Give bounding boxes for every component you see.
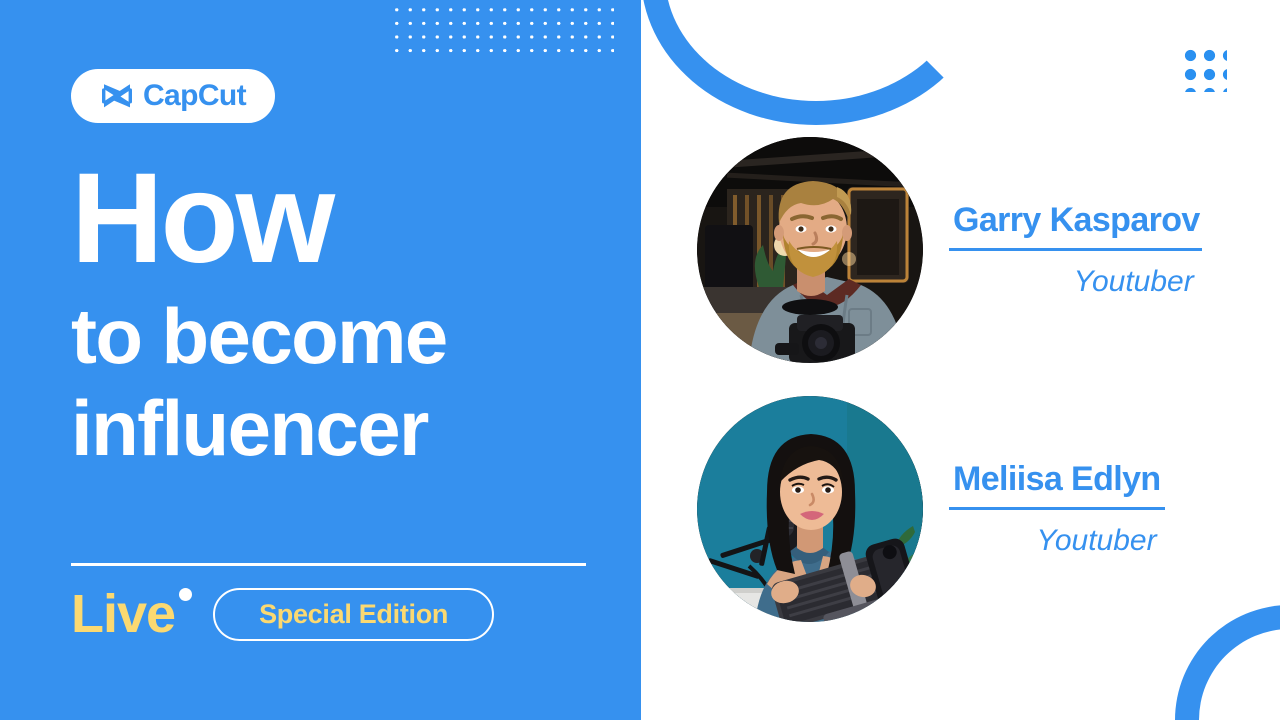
capcut-logo[interactable]: CapCut bbox=[71, 69, 275, 123]
headline-divider bbox=[71, 563, 586, 566]
special-edition-button[interactable]: Special Edition bbox=[213, 588, 494, 641]
headline-line-3: influencer bbox=[71, 382, 611, 474]
speaker-name-2: Meliisa Edlyn bbox=[949, 461, 1165, 498]
speaker-rule-1 bbox=[949, 248, 1202, 251]
speaker-info-2: Meliisa Edlyn Youtuber bbox=[949, 461, 1165, 557]
live-label-wrap: Live bbox=[71, 587, 175, 641]
speaker-card-2: Meliisa Edlyn Youtuber bbox=[697, 396, 1165, 622]
avatar-meliisa-edlyn bbox=[697, 396, 923, 622]
live-badge-row: Live Special Edition bbox=[71, 583, 611, 645]
speaker-rule-2 bbox=[949, 507, 1165, 510]
capcut-hourglass-icon bbox=[100, 81, 134, 111]
live-label: Live bbox=[71, 584, 175, 644]
capcut-wordmark: CapCut bbox=[143, 81, 246, 111]
blue-dot-grid bbox=[1184, 49, 1227, 92]
speaker-role-1: Youtuber bbox=[1074, 265, 1194, 298]
top-arc bbox=[641, 0, 991, 125]
avatar-garry-kasparov bbox=[697, 137, 923, 363]
speaker-card-1: Garry Kasparov Youtuber bbox=[697, 137, 1202, 363]
headline-line-2: to become bbox=[71, 290, 611, 382]
special-edition-label: Special Edition bbox=[259, 601, 448, 628]
white-dot-grid bbox=[390, 3, 614, 53]
bottom-arc bbox=[1175, 605, 1280, 720]
speaker-name-1: Garry Kasparov bbox=[949, 202, 1202, 239]
banner-canvas: CapCut How to become influencer Live Spe… bbox=[0, 0, 1280, 720]
page-title: How to become influencer bbox=[71, 160, 611, 474]
speaker-role-2: Youtuber bbox=[1037, 524, 1157, 557]
live-status-dot-icon bbox=[179, 588, 192, 601]
headline-line-1: How bbox=[71, 160, 611, 278]
speaker-info-1: Garry Kasparov Youtuber bbox=[949, 202, 1202, 298]
